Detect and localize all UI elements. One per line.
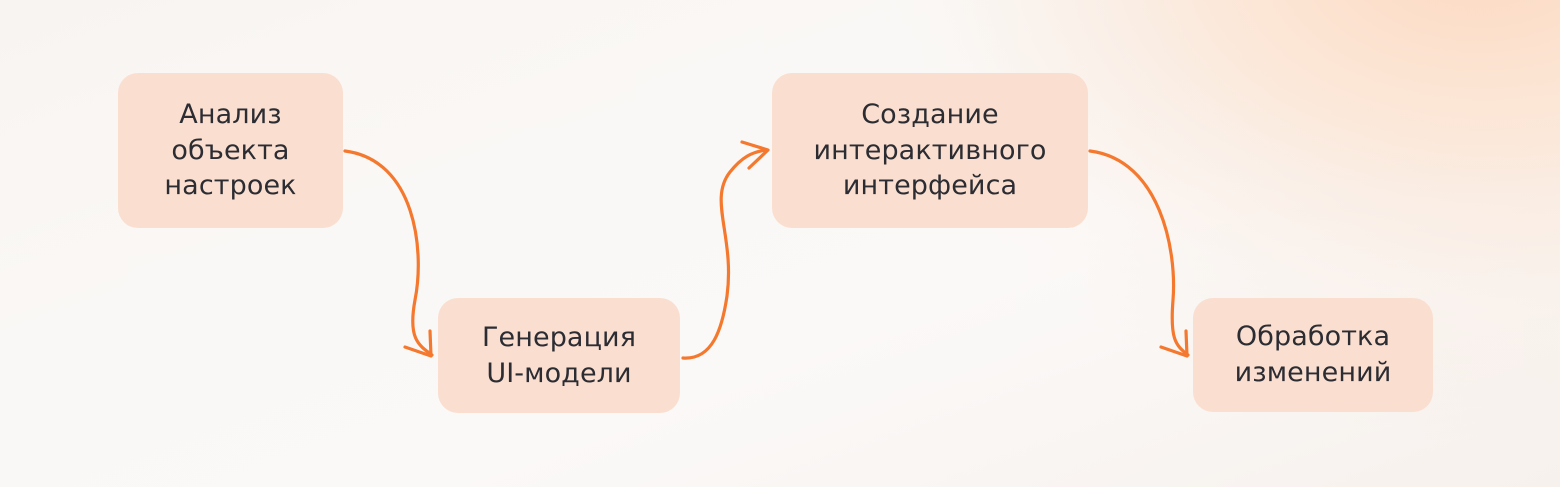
flow-node-label: Создание интерактивного интерфейса — [802, 97, 1059, 204]
flow-node-changes[interactable]: Обработка изменений — [1193, 298, 1433, 412]
edge-path — [345, 151, 432, 355]
edge-path — [683, 150, 766, 358]
arrowhead-icon — [1161, 331, 1187, 356]
flow-node-label: Анализ объекта настроек — [152, 97, 308, 204]
flow-diagram: Анализ объекта настроек Генерация UI-мод… — [0, 0, 1560, 487]
edge-path — [1090, 151, 1188, 355]
arrowhead-icon — [742, 142, 768, 168]
edge-generation-interactive — [683, 142, 768, 358]
edge-interactive-changes — [1090, 151, 1188, 356]
arrowhead-icon — [405, 331, 431, 356]
edge-analysis-generation — [345, 151, 432, 356]
flow-node-label: Обработка изменений — [1223, 319, 1404, 390]
flow-node-analysis[interactable]: Анализ объекта настроек — [118, 73, 343, 228]
flow-node-interactive[interactable]: Создание интерактивного интерфейса — [772, 73, 1088, 228]
flow-node-generation[interactable]: Генерация UI-модели — [438, 298, 680, 413]
flow-node-label: Генерация UI-модели — [470, 320, 648, 391]
